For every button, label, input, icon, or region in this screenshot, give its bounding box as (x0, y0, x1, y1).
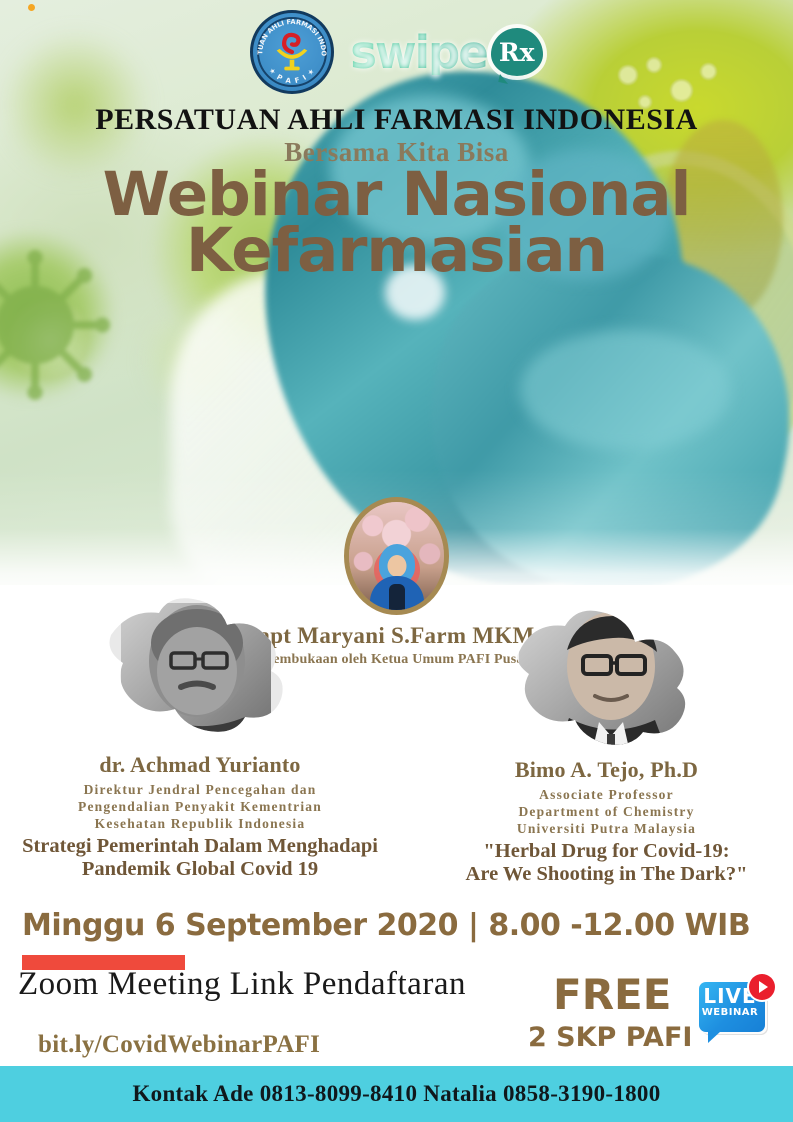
speaker-right-topic: "Herbal Drug for Covid-19: Are We Shooti… (420, 840, 793, 886)
speaker-left-name: dr. Achmad Yurianto (0, 752, 400, 778)
registration-link[interactable]: bit.ly/CovidWebinarPAFI (38, 1031, 320, 1059)
speaker-right-portrait (499, 592, 714, 757)
speaker-left-affiliation: Direktur Jendral Pencegahan dan Pengenda… (0, 782, 400, 833)
live-webinar-badge-icon: LIVE WEBINAR (697, 974, 775, 1046)
play-button-icon (749, 974, 775, 1000)
speaker-right-name: Bimo A. Tejo, Ph.D (420, 757, 793, 783)
webinar-poster: PERSATUAN AHLI FARMASI INDONESIA ★ P A F… (0, 0, 793, 1122)
page-title: Webinar Nasional Kefarmasian (0, 167, 793, 279)
swiperx-logo: swipe Rx (350, 28, 543, 76)
affiliation-line-2: Pengendalian Penyakit Kementrian (0, 799, 400, 816)
logo-row: PERSATUAN AHLI FARMASI INDONESIA ★ P A F… (0, 6, 793, 98)
affiliation-line-1: Associate Professor (420, 787, 793, 804)
organization-name: PERSATUAN AHLI FARMASI INDONESIA (0, 103, 793, 137)
affiliation-line-2: Department of Chemistry (420, 804, 793, 821)
swipe-dot-accent (28, 4, 35, 11)
speaker-right-affiliation: Associate Professor Department of Chemis… (420, 787, 793, 838)
snake-bowl-icon (269, 29, 315, 75)
registration-label: Zoom Meeting Link Pendaftaran (18, 966, 466, 1003)
rx-bubble-icon: Rx (491, 28, 543, 76)
swipe-wordmark: swipe (350, 30, 487, 75)
credits-skp: 2 SKP PAFI (528, 1022, 692, 1053)
affiliation-line-3: Kesehatan Republik Indonesia (0, 816, 400, 833)
brush-stroke-mask (499, 592, 714, 757)
contact-text: Kontak Ade 0813-8099-8410 Natalia 0858-3… (132, 1081, 660, 1107)
affiliation-line-3: Universiti Putra Malaysia (420, 821, 793, 838)
pafi-logo-icon: PERSATUAN AHLI FARMASI INDONESIA ★ P A F… (250, 10, 334, 94)
contact-footer: Kontak Ade 0813-8099-8410 Natalia 0858-3… (0, 1066, 793, 1122)
speaker-right: Bimo A. Tejo, Ph.D Associate Professor D… (420, 592, 793, 886)
live-badge-line-2: WEBINAR (697, 1008, 763, 1018)
title-line-2: Kefarmasian (0, 223, 793, 279)
topic-line-1: Strategi Pemerintah Dalam Menghadapi (0, 835, 400, 858)
topic-line-1: "Herbal Drug for Covid-19: (420, 840, 793, 863)
affiliation-line-1: Direktur Jendral Pencegahan dan (0, 782, 400, 799)
speaker-left-portrait (93, 583, 308, 748)
event-date-time: Minggu 6 September 2020 | 8.00 -12.00 WI… (22, 908, 750, 943)
brush-stroke-mask (93, 583, 308, 748)
speaker-left-topic: Strategi Pemerintah Dalam Menghadapi Pan… (0, 835, 400, 881)
topic-line-2: Are We Shooting in The Dark?" (420, 863, 793, 886)
price-free: FREE (553, 970, 671, 1019)
speaker-left: dr. Achmad Yurianto Direktur Jendral Pen… (0, 583, 400, 881)
topic-line-2: Pandemik Global Covid 19 (0, 858, 400, 881)
rx-label: Rx (499, 40, 535, 65)
